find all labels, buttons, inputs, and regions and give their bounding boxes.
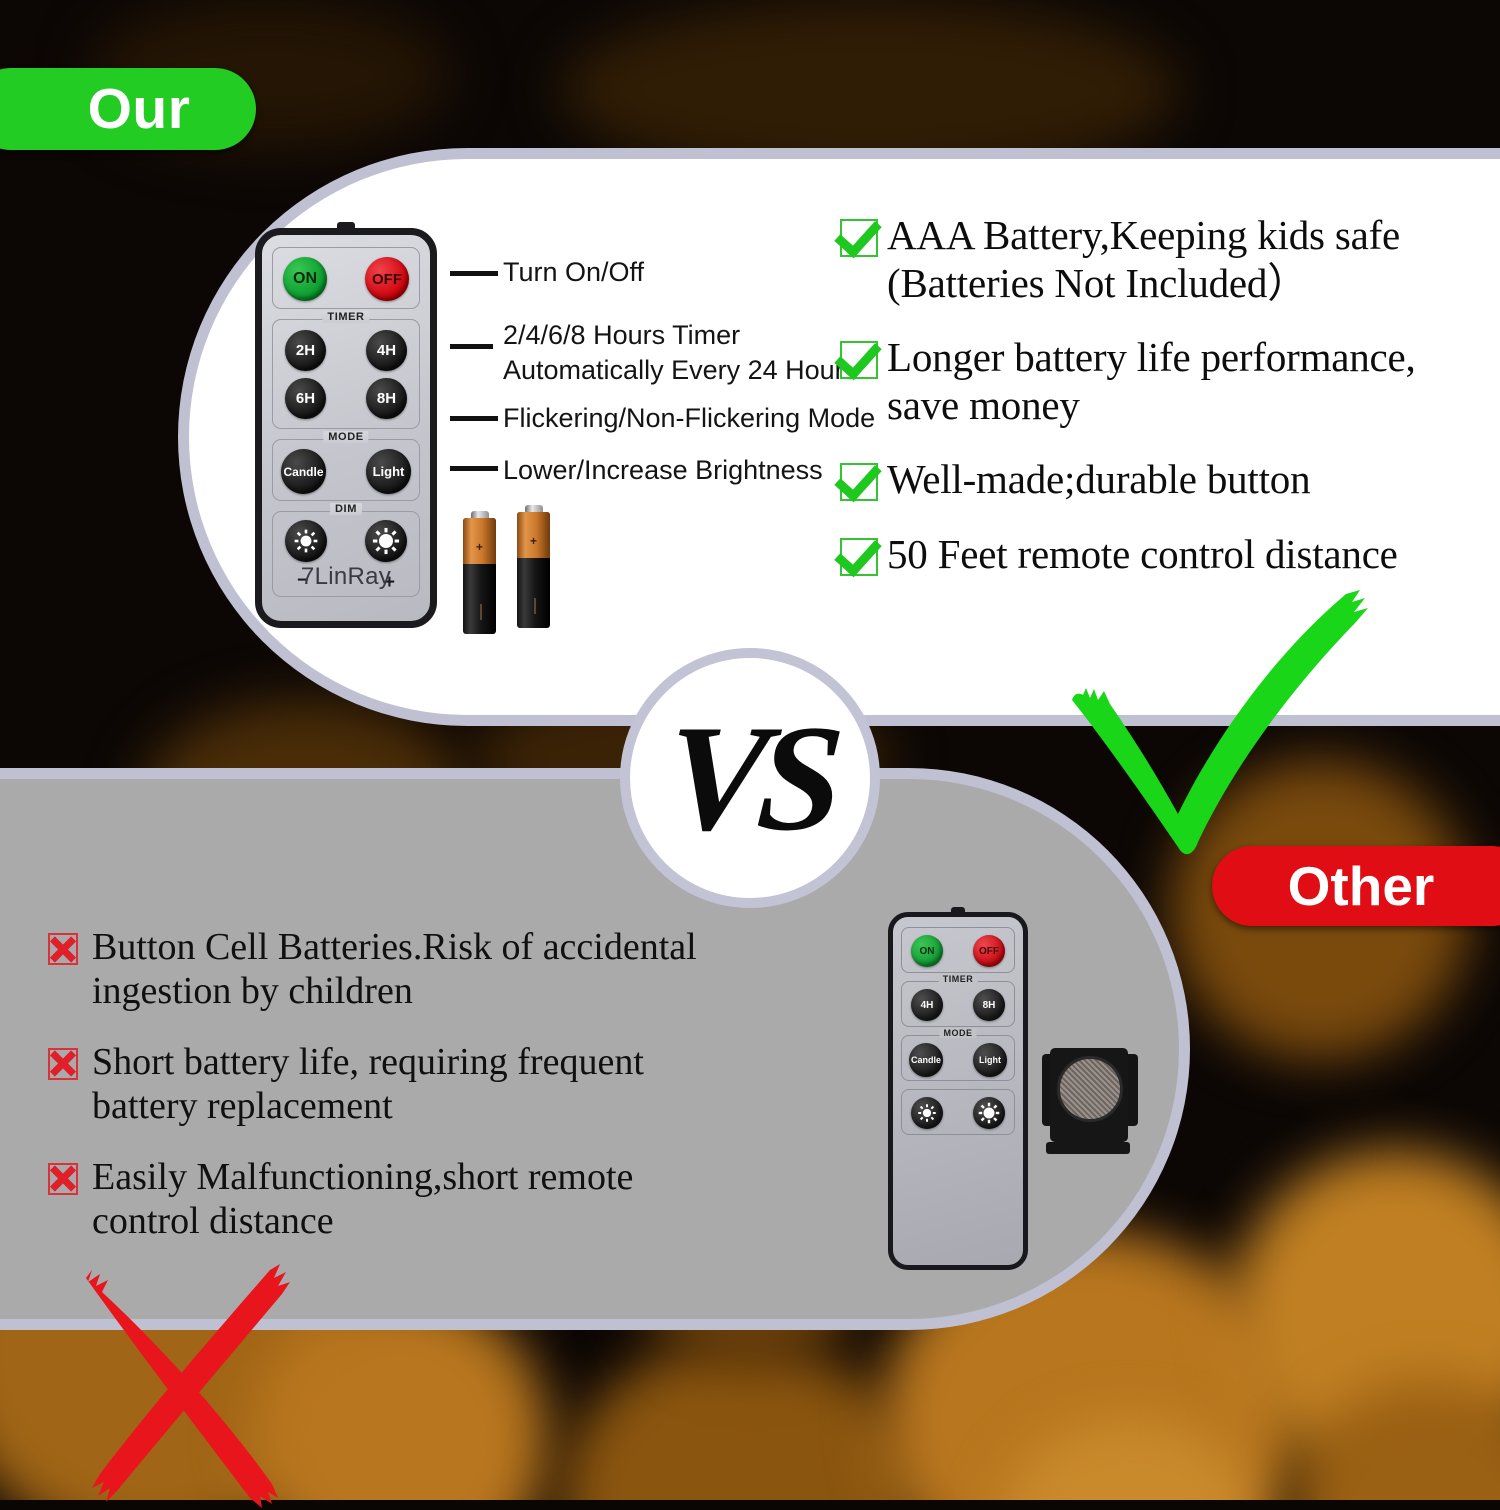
timer-2h-button[interactable]: 2H [285, 330, 326, 371]
mode-group: MODE Candle Light [901, 1035, 1015, 1081]
big-check-icon [1060, 588, 1390, 860]
battery-stripe [480, 604, 482, 620]
cons-item-text: Easily Malfunctioning,short remote contr… [92, 1155, 633, 1244]
aaa-battery: + [517, 512, 550, 628]
mode-group: MODE Candle Light [272, 439, 420, 501]
pros-item: Well-made;durable button [840, 456, 1500, 504]
on-button[interactable]: ON [911, 935, 943, 967]
dim-down-button[interactable] [285, 520, 327, 562]
cross-icon [48, 1163, 78, 1195]
cons-item-line2: ingestion by children [92, 970, 413, 1012]
mode-light-button[interactable]: Light [366, 449, 411, 494]
callout-label-4: Lower/Increase Brightness [503, 453, 823, 488]
sun-dim-icon [917, 1103, 937, 1123]
timer-8h-button[interactable]: 8H [366, 378, 407, 419]
callout-label-1: Turn On/Off [503, 255, 644, 290]
our-remote-control: ON OFF TIMER 2H 4H 6H 8H MODE Candle Lig… [255, 228, 437, 628]
badge-our: Our [0, 68, 256, 150]
mode-candle-button[interactable]: Candle [281, 449, 326, 494]
power-group: ON OFF [272, 247, 420, 309]
callout-label-2: 2/4/6/8 Hours Timer Automatically Every … [503, 318, 857, 387]
pros-item-text: 50 Feet remote control distance [887, 531, 1398, 579]
coin-cell-battery-holder [1042, 1038, 1138, 1154]
check-icon [840, 219, 878, 257]
battery-plus-mark: + [463, 540, 496, 554]
cons-item-line2: battery replacement [92, 1085, 393, 1127]
dim-group [901, 1089, 1015, 1135]
big-cross-icon [72, 1248, 372, 1510]
callout-label-2-line2: Automatically Every 24 Hours [503, 353, 857, 388]
cons-list: Button Cell Batteries.Risk of accidental… [48, 925, 808, 1270]
timer-group: TIMER 4H 8H [901, 981, 1015, 1027]
cons-item: Short battery life, requiring frequent b… [48, 1040, 808, 1129]
timer-4h-button[interactable]: 4H [366, 330, 407, 371]
cross-icon [48, 933, 78, 965]
aaa-battery: + [463, 518, 496, 634]
on-button[interactable]: ON [283, 257, 327, 301]
off-button[interactable]: OFF [365, 257, 409, 301]
pros-item-text: Well-made;durable button [887, 456, 1310, 504]
mode-group-label: MODE [940, 1028, 977, 1038]
timer-8h-button[interactable]: 8H [973, 989, 1005, 1021]
dim-group-label: DIM [330, 503, 362, 515]
cons-item: Button Cell Batteries.Risk of accidental… [48, 925, 808, 1014]
cons-item-line1: Short battery life, requiring frequent [92, 1041, 644, 1083]
coin-cell-icon [1057, 1056, 1123, 1122]
sun-dim-icon [293, 528, 319, 554]
pros-item-line2: (Batteries Not Included） [887, 260, 1308, 306]
pros-item-line1: Longer battery life performance, [887, 334, 1416, 380]
holder-foot [1046, 1142, 1130, 1154]
check-icon [840, 341, 878, 379]
pros-item-text: Longer battery life performance, save mo… [887, 334, 1416, 429]
check-icon [840, 463, 878, 501]
sun-bright-icon [372, 527, 400, 555]
brand-label: 7LinRay [262, 563, 430, 591]
mode-group-label: MODE [323, 431, 368, 443]
dim-up-button[interactable] [365, 520, 407, 562]
callout-line-4 [450, 466, 498, 471]
power-group: ON OFF [901, 927, 1015, 973]
badge-other-label: Other [1288, 859, 1457, 914]
dim-up-button[interactable] [973, 1097, 1005, 1129]
pros-item-line1: Well-made;durable button [887, 456, 1310, 502]
badge-our-label: Our [36, 81, 191, 138]
ir-emitter-nub [337, 222, 355, 230]
cons-item-line2: control distance [92, 1200, 334, 1242]
dim-down-button[interactable] [911, 1097, 943, 1129]
other-remote-control: ON OFF TIMER 4H 8H MODE Candle Light [888, 912, 1028, 1270]
callout-line-3 [450, 416, 498, 421]
vs-label: VS [662, 702, 839, 854]
battery-stripe [534, 598, 536, 614]
sun-bright-icon [978, 1102, 1000, 1124]
timer-group: TIMER 2H 4H 6H 8H [272, 319, 420, 429]
cons-item-line1: Easily Malfunctioning,short remote [92, 1156, 633, 1198]
callout-label-2-line1: 2/4/6/8 Hours Timer [503, 318, 857, 353]
callout-line-1 [450, 271, 498, 276]
pros-item-line1: 50 Feet remote control distance [887, 531, 1398, 577]
pros-list: AAA Battery,Keeping kids safe (Batteries… [840, 212, 1500, 605]
battery-plus-mark: + [517, 534, 550, 548]
cons-item-text: Short battery life, requiring frequent b… [92, 1040, 644, 1129]
pros-item: 50 Feet remote control distance [840, 531, 1500, 579]
callout-label-3: Flickering/Non-Flickering Mode [503, 401, 875, 436]
off-button[interactable]: OFF [973, 935, 1005, 967]
timer-4h-button[interactable]: 4H [911, 989, 943, 1021]
pros-item: Longer battery life performance, save mo… [840, 334, 1500, 429]
pros-item-text: AAA Battery,Keeping kids safe (Batteries… [887, 212, 1400, 307]
cross-icon [48, 1048, 78, 1080]
timer-group-label: TIMER [939, 974, 978, 984]
mode-candle-button[interactable]: Candle [909, 1043, 943, 1077]
pros-item-line1: AAA Battery,Keeping kids safe [887, 212, 1400, 258]
vs-badge: VS [620, 648, 880, 908]
cons-item-line1: Button Cell Batteries.Risk of accidental [92, 926, 697, 968]
pros-item-line2: save money [887, 382, 1080, 428]
cons-item-text: Button Cell Batteries.Risk of accidental… [92, 925, 697, 1014]
timer-6h-button[interactable]: 6H [285, 378, 326, 419]
timer-group-label: TIMER [322, 311, 369, 323]
mode-light-button[interactable]: Light [973, 1043, 1007, 1077]
pros-item: AAA Battery,Keeping kids safe (Batteries… [840, 212, 1500, 307]
callout-line-2 [450, 344, 493, 349]
cons-item: Easily Malfunctioning,short remote contr… [48, 1155, 808, 1244]
check-icon [840, 538, 878, 576]
ir-emitter-nub [951, 907, 965, 913]
